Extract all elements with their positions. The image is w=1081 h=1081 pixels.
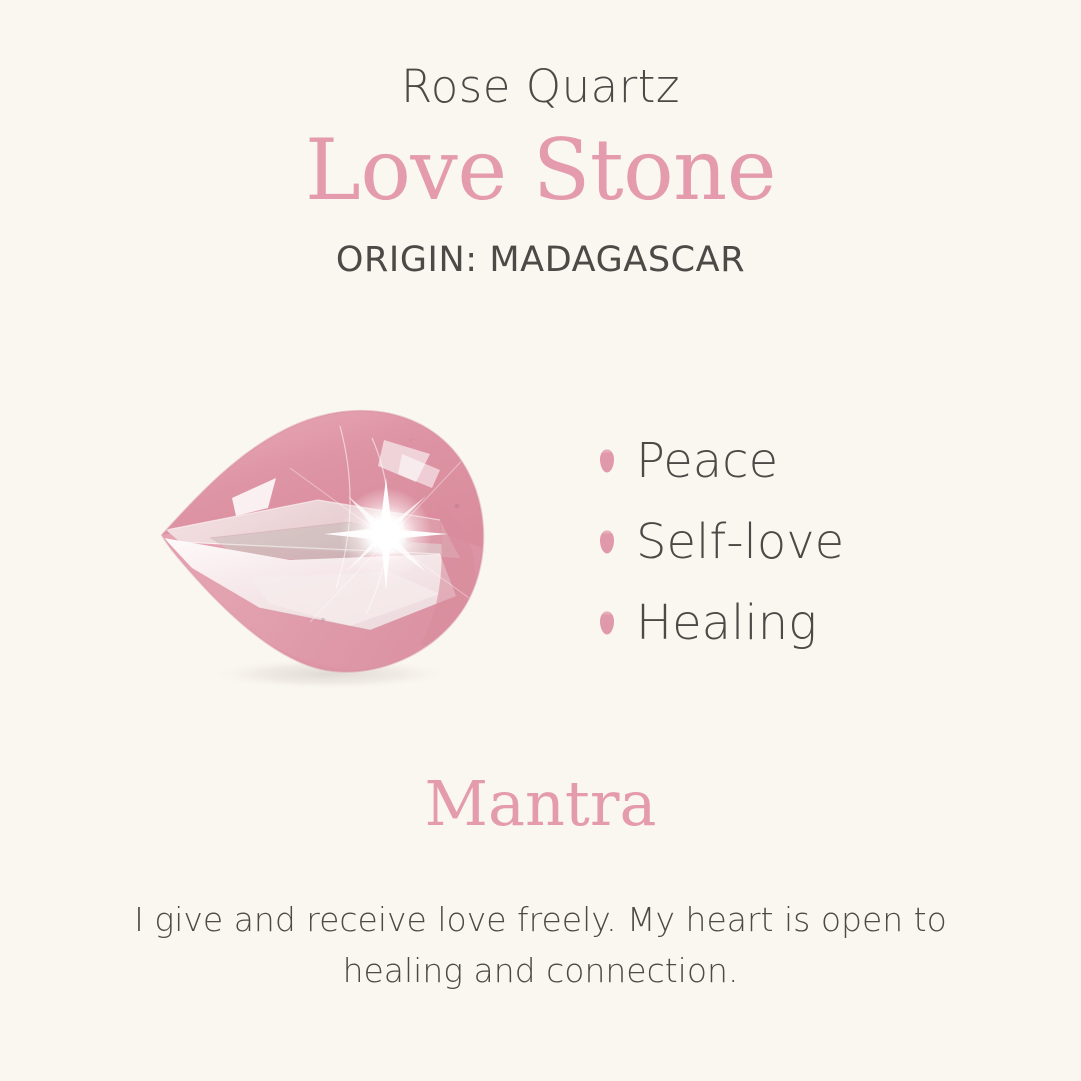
- properties-list: Peace Self-love Healing: [598, 420, 1018, 663]
- gemstone-illustration-wrap: [140, 382, 520, 702]
- gem-bullet-icon: [598, 610, 616, 636]
- list-item: Self-love: [598, 501, 1018, 582]
- page-title: Love Stone: [0, 112, 1081, 215]
- mantra-text: I give and receive love freely. My heart…: [131, 838, 951, 996]
- card-header: Rose Quartz Love Stone ORIGIN: MADAGASCA…: [0, 0, 1081, 279]
- gem-and-properties-section: Peace Self-love Healing: [0, 382, 1081, 712]
- stone-name-eyebrow: Rose Quartz: [0, 0, 1081, 112]
- gem-bullet-icon: [598, 529, 616, 555]
- list-item-label: Peace: [636, 437, 778, 485]
- rose-quartz-card: Rose Quartz Love Stone ORIGIN: MADAGASCA…: [0, 0, 1081, 1081]
- list-item-label: Healing: [636, 599, 817, 647]
- mantra-section: Mantra I give and receive love freely. M…: [0, 770, 1081, 996]
- gem-body: [140, 382, 520, 702]
- list-item-label: Self-love: [636, 518, 844, 566]
- origin-label: ORIGIN: MADAGASCAR: [0, 215, 1081, 280]
- gem-bullet-icon: [598, 448, 616, 474]
- list-item: Peace: [598, 420, 1018, 501]
- list-item: Healing: [598, 582, 1018, 663]
- rose-quartz-gem-icon: [140, 382, 520, 702]
- mantra-heading: Mantra: [0, 770, 1081, 838]
